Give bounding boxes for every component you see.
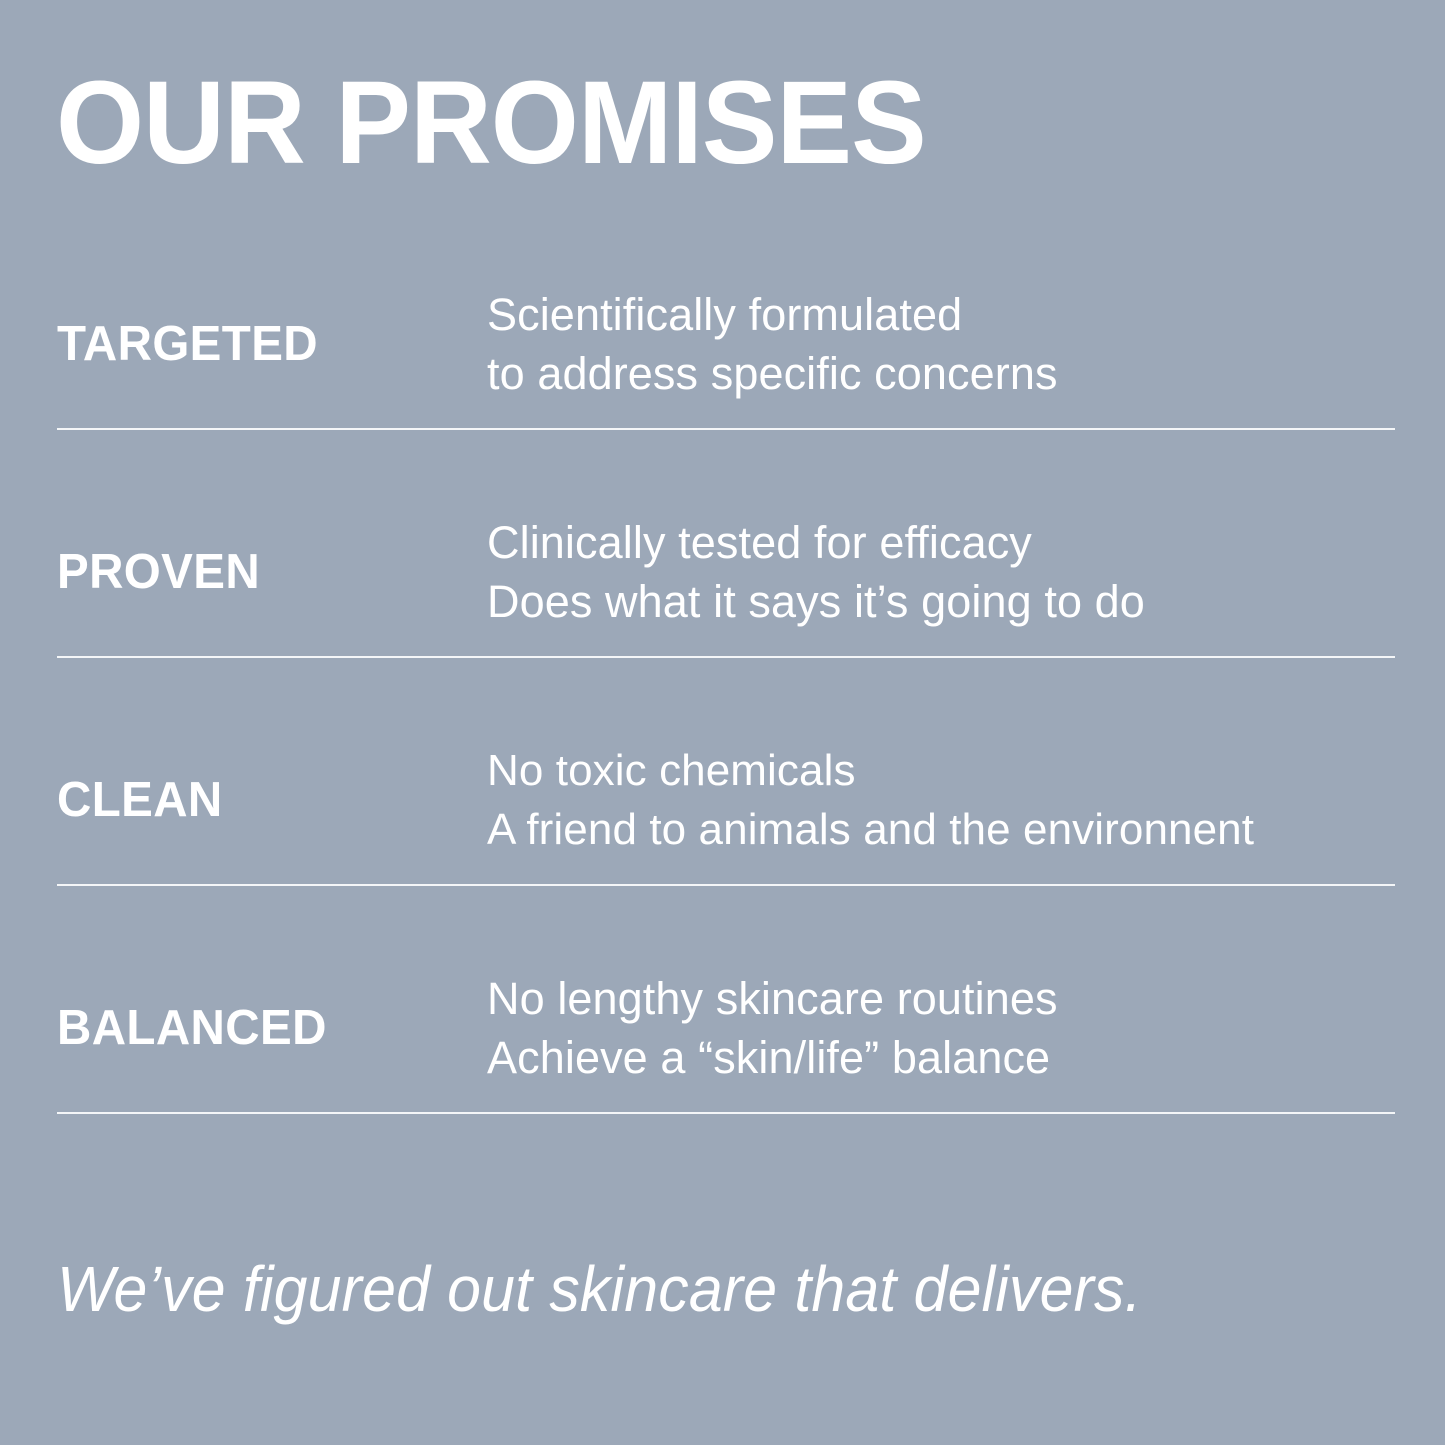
promise-description-targeted: Scientifically formulated to address spe… <box>487 285 1395 403</box>
promise-description-line: A friend to animals and the environnent <box>487 800 1395 859</box>
promise-description-proven: Clinically tested for efficacy Does what… <box>487 513 1395 631</box>
promises-poster: OUR PROMISES TARGETED Scientifically for… <box>0 0 1445 1445</box>
promise-description-line: No toxic chemicals <box>487 741 1395 800</box>
promise-label-balanced: BALANCED <box>57 1002 474 1054</box>
promise-label-clean: CLEAN <box>57 774 474 826</box>
divider <box>57 428 1395 430</box>
divider <box>57 884 1395 886</box>
promise-row: TARGETED Scientifically formulated to ad… <box>0 260 1445 488</box>
divider <box>57 656 1395 658</box>
promise-content: TARGETED Scientifically formulated to ad… <box>57 260 1395 428</box>
page-title: OUR PROMISES <box>56 64 926 182</box>
promise-row: CLEAN No toxic chemicals A friend to ani… <box>0 716 1445 944</box>
promise-description-line: Does what it says it’s going to do <box>487 572 1395 631</box>
promise-content: PROVEN Clinically tested for efficacy Do… <box>57 488 1395 656</box>
promise-list: TARGETED Scientifically formulated to ad… <box>0 260 1445 1172</box>
promise-row: PROVEN Clinically tested for efficacy Do… <box>0 488 1445 716</box>
promise-description-clean: No toxic chemicals A friend to animals a… <box>487 741 1395 859</box>
promise-description-line: Achieve a “skin/life” balance <box>487 1028 1395 1087</box>
divider <box>57 1112 1395 1114</box>
promise-description-balanced: No lengthy skincare routines Achieve a “… <box>487 969 1395 1087</box>
promise-description-line: to address specific concerns <box>487 344 1395 403</box>
promise-label-targeted: TARGETED <box>57 318 474 370</box>
promise-content: BALANCED No lengthy skincare routines Ac… <box>57 944 1395 1112</box>
promise-description-line: Scientifically formulated <box>487 285 1395 344</box>
promise-description-line: Clinically tested for efficacy <box>487 513 1395 572</box>
promise-description-line: No lengthy skincare routines <box>487 969 1395 1028</box>
footer-tagline: We’ve figured out skincare that delivers… <box>57 1253 1142 1325</box>
promise-content: CLEAN No toxic chemicals A friend to ani… <box>57 716 1395 884</box>
promise-label-proven: PROVEN <box>57 546 474 598</box>
promise-row: BALANCED No lengthy skincare routines Ac… <box>0 944 1445 1172</box>
